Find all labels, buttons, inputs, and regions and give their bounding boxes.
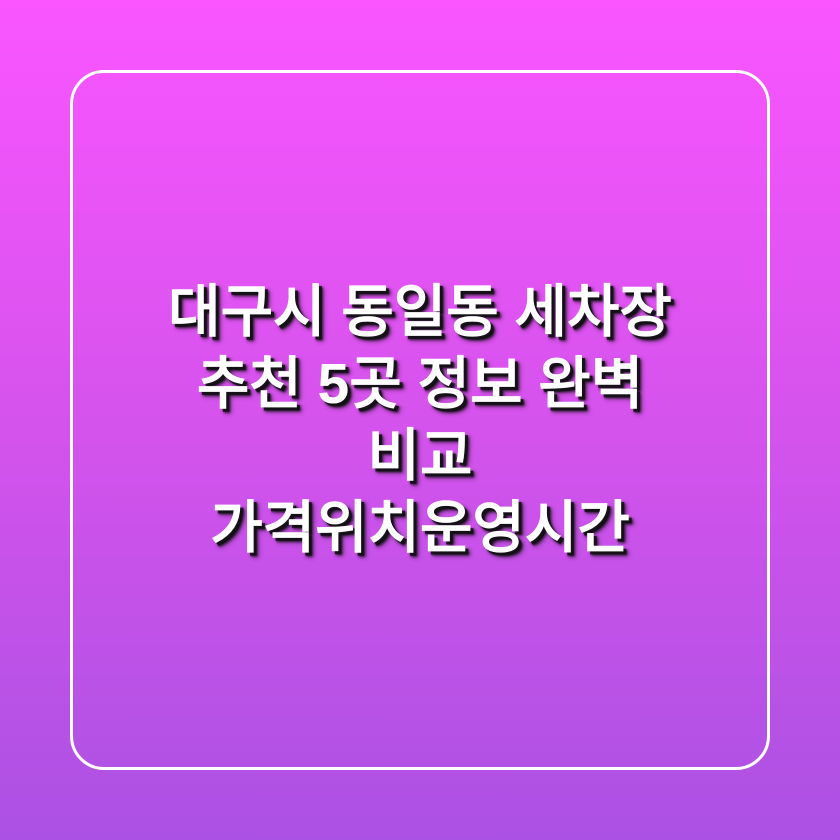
headline-line-3: 비교 — [60, 420, 780, 492]
headline-line-4: 가격위치운영시간 — [60, 492, 780, 564]
headline-text-block: 대구시 동일동 세차장 추천 5곳 정보 완벽 비교 가격위치운영시간 — [0, 0, 840, 840]
thumbnail-card: 대구시 동일동 세차장 추천 5곳 정보 완벽 비교 가격위치운영시간 — [0, 0, 840, 840]
headline-line-2: 추천 5곳 정보 완벽 — [60, 348, 780, 420]
headline-line-1: 대구시 동일동 세차장 — [60, 276, 780, 348]
